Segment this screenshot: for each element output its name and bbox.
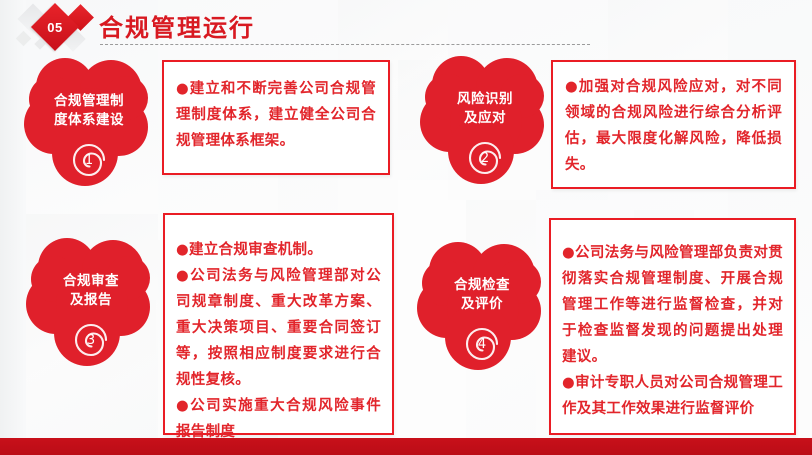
- page-title: 合规管理运行: [99, 8, 255, 43]
- item-4-label-line1: 合规检查: [417, 276, 547, 295]
- item-1-text-box: ●建立和不断完善公司合规管理制度体系，建立健全公司合规管理体系框架。: [162, 60, 390, 175]
- item-1-body: ●建立和不断完善公司合规管理制度体系，建立健全公司合规管理体系框架。: [176, 76, 376, 154]
- item-1-label-line2: 度体系建设: [24, 111, 154, 130]
- section-number-text: 05: [38, 10, 72, 44]
- item-2-number: 2: [456, 134, 514, 182]
- item-4-label-line2: 及评价: [417, 295, 547, 314]
- item-4-number: 4: [453, 320, 511, 368]
- section-number-badge: 05: [14, 2, 100, 56]
- item-3-body: ●建立合规审查机制。 ●公司法务与风险管理部对公司规章制度、重大改革方案、重大决…: [176, 237, 381, 445]
- item-4-label: 合规检查 及评价: [417, 276, 547, 314]
- title-divider: [100, 44, 590, 45]
- slide-header: 05 合规管理运行: [0, 0, 812, 56]
- item-2-cloud-badge: 风险识别 及应对 2: [420, 56, 550, 186]
- footer-bar: [0, 438, 812, 455]
- item-2-text-box: ●加强对合规风险应对，对不同领域的合规风险进行综合分析评估，最大限度化解风险，降…: [551, 60, 796, 189]
- item-2-label: 风险识别 及应对: [420, 90, 550, 128]
- item-1-label: 合规管理制 度体系建设: [24, 92, 154, 130]
- item-3-label-line1: 合规审查: [26, 272, 156, 291]
- item-2-body: ●加强对合规风险应对，对不同领域的合规风险进行综合分析评估，最大限度化解风险，降…: [565, 74, 782, 178]
- item-3-cloud-badge: 合规审查 及报告 3: [26, 238, 156, 368]
- item-1-cloud-badge: 合规管理制 度体系建设 1: [24, 58, 154, 188]
- slide-canvas: 05 合规管理运行 合规管理制 度体系建设 1 ●建立和不断完善公司合规管理制度…: [0, 0, 812, 455]
- item-4-text-box: ●公司法务与风险管理部负责对贯彻落实合规管理制度、开展合规管理工作等进行监督检查…: [549, 218, 796, 435]
- item-3-number: 3: [62, 316, 120, 364]
- item-3-label: 合规审查 及报告: [26, 272, 156, 310]
- item-4-cloud-badge: 合规检查 及评价 4: [417, 242, 547, 372]
- item-3-label-line2: 及报告: [26, 291, 156, 310]
- item-2-label-line2: 及应对: [420, 109, 550, 128]
- decorative-diamond-icon: [16, 31, 32, 47]
- item-1-number: 1: [60, 136, 118, 184]
- item-4-body: ●公司法务与风险管理部负责对贯彻落实合规管理制度、开展合规管理工作等进行监督检查…: [562, 240, 783, 422]
- item-3-text-box: ●建立合规审查机制。 ●公司法务与风险管理部对公司规章制度、重大改革方案、重大决…: [163, 213, 394, 435]
- item-2-label-line1: 风险识别: [420, 90, 550, 109]
- item-1-label-line1: 合规管理制: [24, 92, 154, 111]
